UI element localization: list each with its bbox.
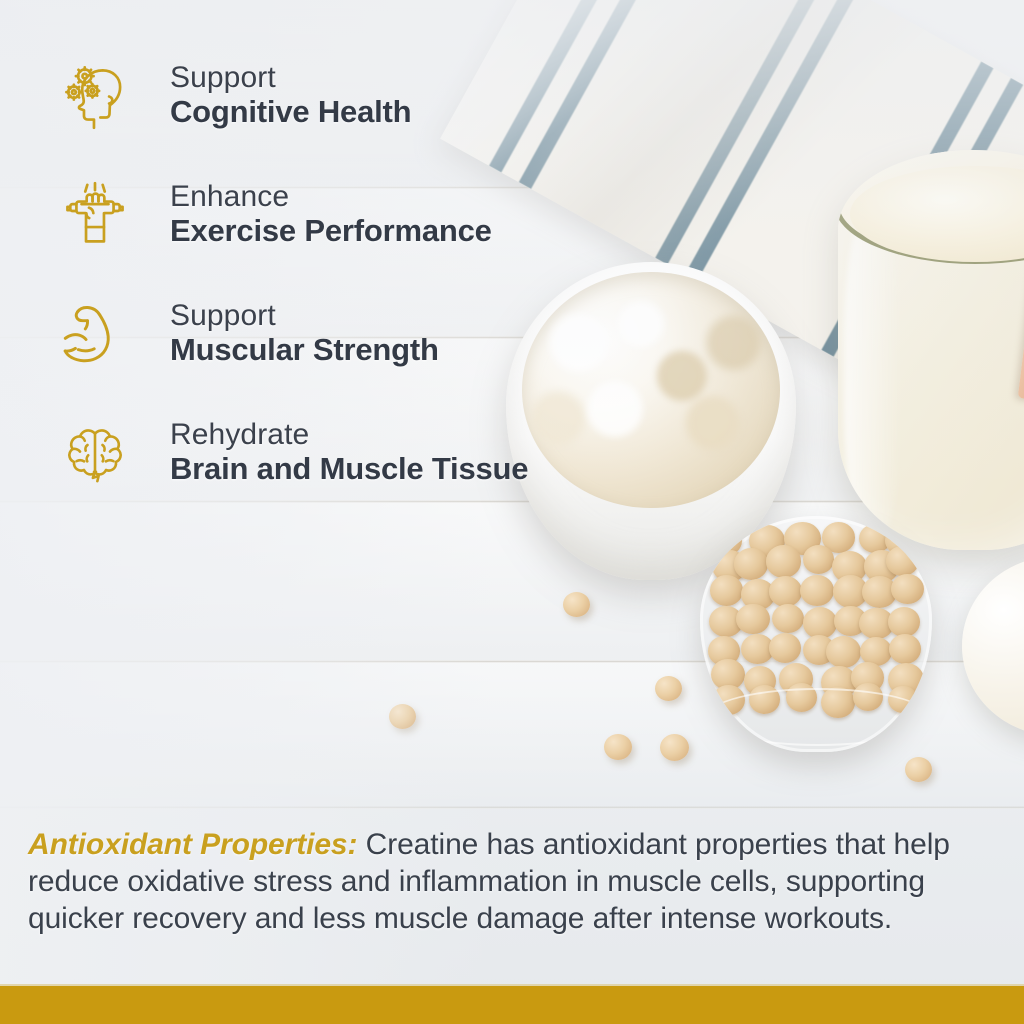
soybean: [734, 548, 768, 579]
soybean: [660, 734, 689, 761]
benefit-item-brain-muscle-tissue: Rehydrate Brain and Muscle Tissue: [0, 403, 660, 503]
antioxidant-blurb: Antioxidant Properties: Creatine has ant…: [28, 826, 996, 937]
benefit-lead: Enhance: [170, 181, 492, 213]
container-of-soybeans: [700, 516, 932, 752]
soybean: [769, 576, 802, 606]
fist-dumbbell-icon: [52, 174, 138, 256]
benefit-lead: Rehydrate: [170, 419, 528, 451]
benefit-title: Brain and Muscle Tissue: [170, 451, 528, 487]
benefit-lead: Support: [170, 300, 439, 332]
benefit-title: Cognitive Health: [170, 94, 411, 130]
promo-graphic: Support Cognitive Health: [0, 0, 1024, 1024]
benefit-lead: Support: [170, 62, 411, 94]
benefit-text: Support Cognitive Health: [170, 62, 411, 130]
soybean: [889, 634, 921, 664]
soybean: [803, 607, 837, 638]
benefit-text: Rehydrate Brain and Muscle Tissue: [170, 419, 528, 487]
soybean: [769, 633, 801, 663]
footer-accent-bar: [0, 986, 1024, 1024]
soybean: [563, 592, 590, 617]
soybean: [710, 575, 744, 606]
soybean: [905, 757, 932, 782]
soybeans-cluster: [708, 522, 924, 712]
benefit-item-cognitive-health: Support Cognitive Health: [0, 46, 660, 146]
benefit-text: Enhance Exercise Performance: [170, 181, 492, 249]
soybean: [800, 575, 834, 606]
brain-icon: [52, 413, 138, 493]
soybean: [604, 734, 632, 760]
soybean: [891, 574, 924, 605]
soybean: [655, 676, 682, 701]
soybean: [888, 607, 920, 636]
glass-highlight: [844, 210, 902, 540]
glass-of-milk: [838, 150, 1024, 550]
head-with-gears-icon: [52, 55, 138, 137]
soybean: [389, 704, 416, 729]
plank-seam: [0, 806, 1024, 809]
soybean: [886, 546, 919, 576]
soybean: [826, 636, 861, 669]
benefit-title: Muscular Strength: [170, 332, 439, 368]
benefit-list: Support Cognitive Health: [0, 46, 660, 522]
benefit-title: Exercise Performance: [170, 213, 492, 249]
benefit-item-exercise-performance: Enhance Exercise Performance: [0, 165, 660, 265]
soybean: [803, 545, 835, 574]
blurb-highlight: Antioxidant Properties:: [28, 828, 357, 861]
flexed-bicep-icon: [52, 291, 138, 377]
jar-lower-ring: [706, 688, 930, 746]
soybean: [766, 545, 801, 578]
soybean: [772, 604, 804, 633]
benefit-item-muscular-strength: Support Muscular Strength: [0, 284, 660, 384]
soybean: [736, 604, 769, 635]
benefit-text: Support Muscular Strength: [170, 300, 439, 368]
